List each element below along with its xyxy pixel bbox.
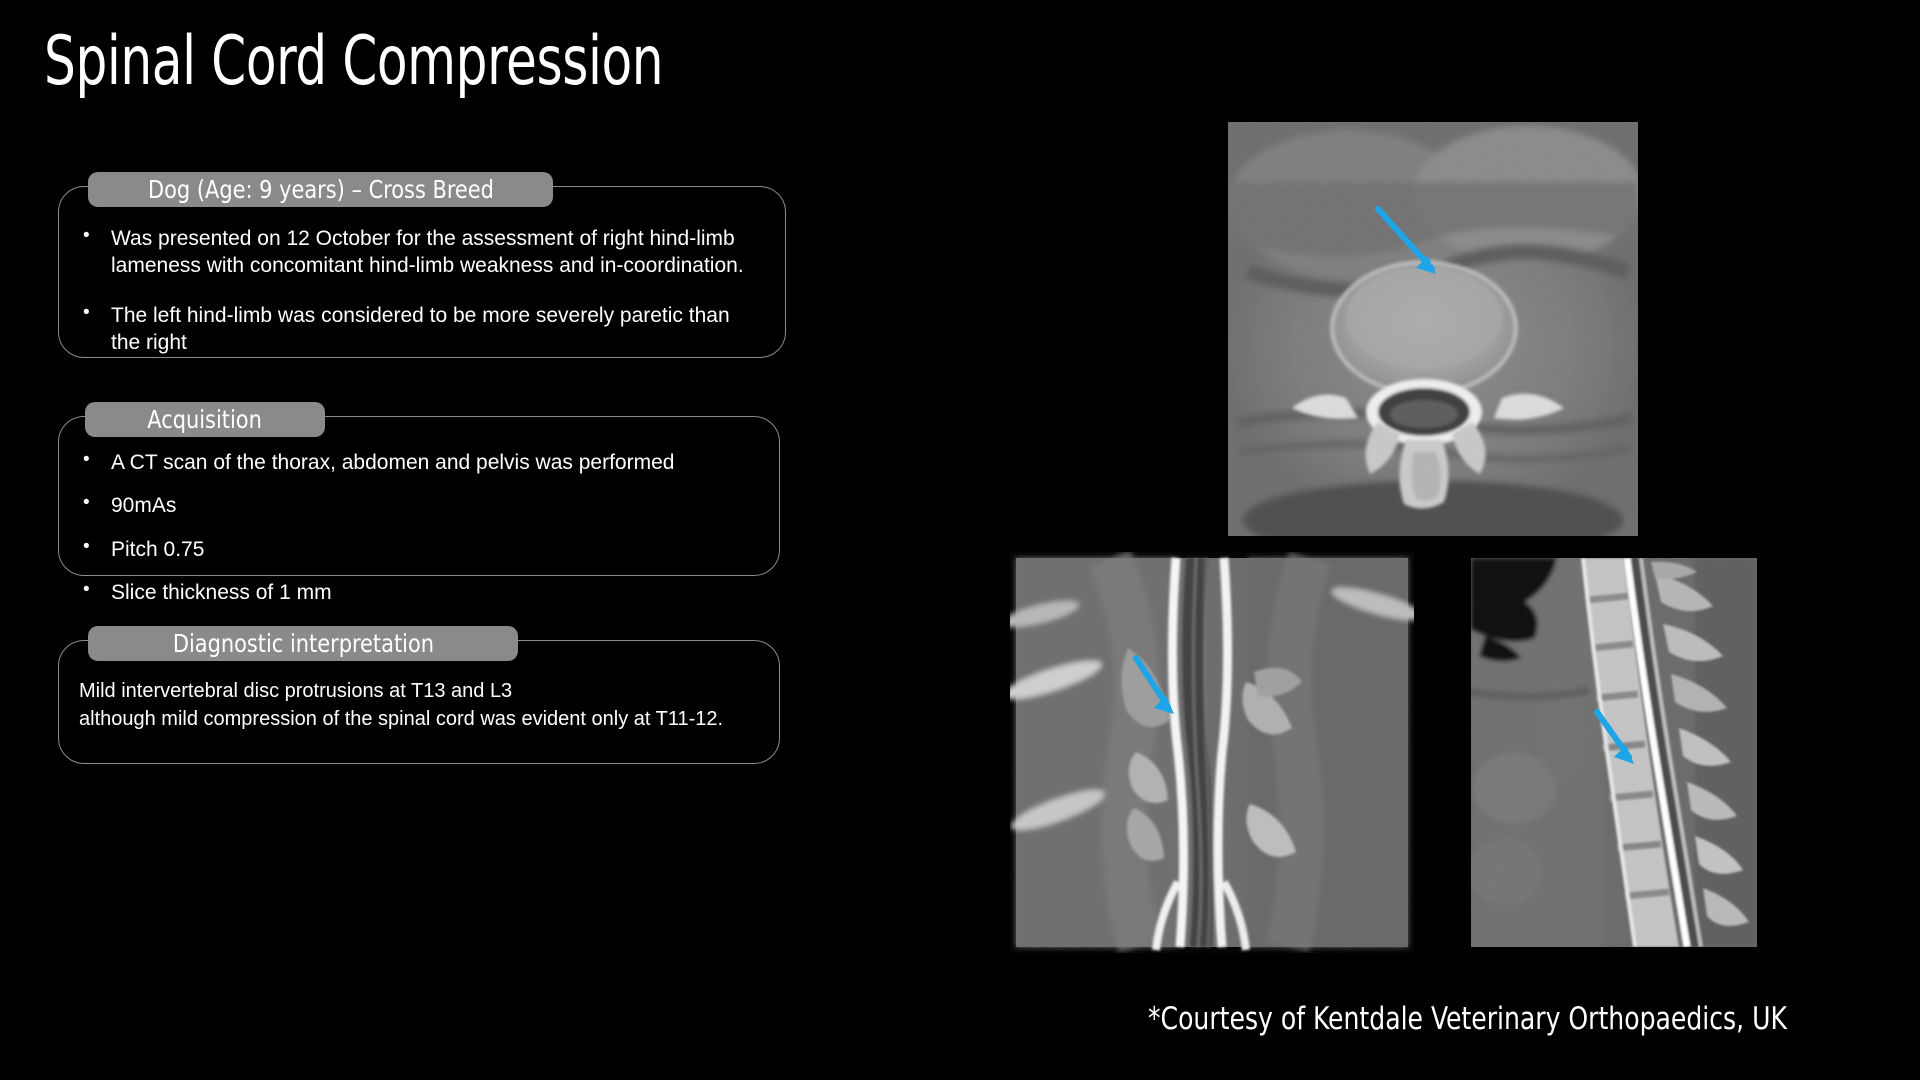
list-item: A CT scan of the thorax, abdomen and pel… bbox=[69, 449, 755, 476]
case-card: Was presented on 12 October for the asse… bbox=[58, 186, 786, 358]
acquisition-bullet-list: A CT scan of the thorax, abdomen and pel… bbox=[69, 449, 755, 606]
diagnostic-card-header-label: Diagnostic interpretation bbox=[172, 629, 433, 658]
diagnostic-text: Mild intervertebral disc protrusions at … bbox=[79, 677, 755, 733]
ct-axial-view bbox=[1228, 122, 1638, 536]
case-card-header: Dog (Age: 9 years) – Cross Breed bbox=[88, 172, 553, 207]
list-item: The left hind-limb was considered to be … bbox=[69, 302, 761, 357]
list-item: Pitch 0.75 bbox=[69, 536, 755, 563]
case-card-body: Was presented on 12 October for the asse… bbox=[59, 187, 785, 356]
ct-coronal-image bbox=[1010, 552, 1414, 953]
list-item: Was presented on 12 October for the asse… bbox=[69, 225, 761, 280]
list-item: 90mAs bbox=[69, 492, 755, 519]
acquisition-card-body: A CT scan of the thorax, abdomen and pel… bbox=[59, 417, 779, 606]
list-item: Slice thickness of 1 mm bbox=[69, 579, 755, 606]
ct-sagittal-view bbox=[1465, 552, 1763, 953]
ct-sagittal-image bbox=[1465, 552, 1763, 953]
courtesy-caption: *Courtesy of Kentdale Veterinary Orthopa… bbox=[1148, 1001, 1787, 1037]
acquisition-card: A CT scan of the thorax, abdomen and pel… bbox=[58, 416, 780, 576]
page-title: Spinal Cord Compression bbox=[44, 22, 663, 101]
acquisition-card-header-label: Acquisition bbox=[148, 405, 263, 434]
acquisition-card-header: Acquisition bbox=[85, 402, 325, 437]
case-card-header-label: Dog (Age: 9 years) – Cross Breed bbox=[148, 175, 494, 204]
diagnostic-card-header: Diagnostic interpretation bbox=[88, 626, 518, 661]
ct-axial-image bbox=[1228, 122, 1638, 536]
slide-root: Spinal Cord Compression Was presented on… bbox=[0, 0, 1920, 1080]
case-bullet-list: Was presented on 12 October for the asse… bbox=[69, 225, 761, 356]
ct-coronal-view bbox=[1010, 552, 1414, 953]
